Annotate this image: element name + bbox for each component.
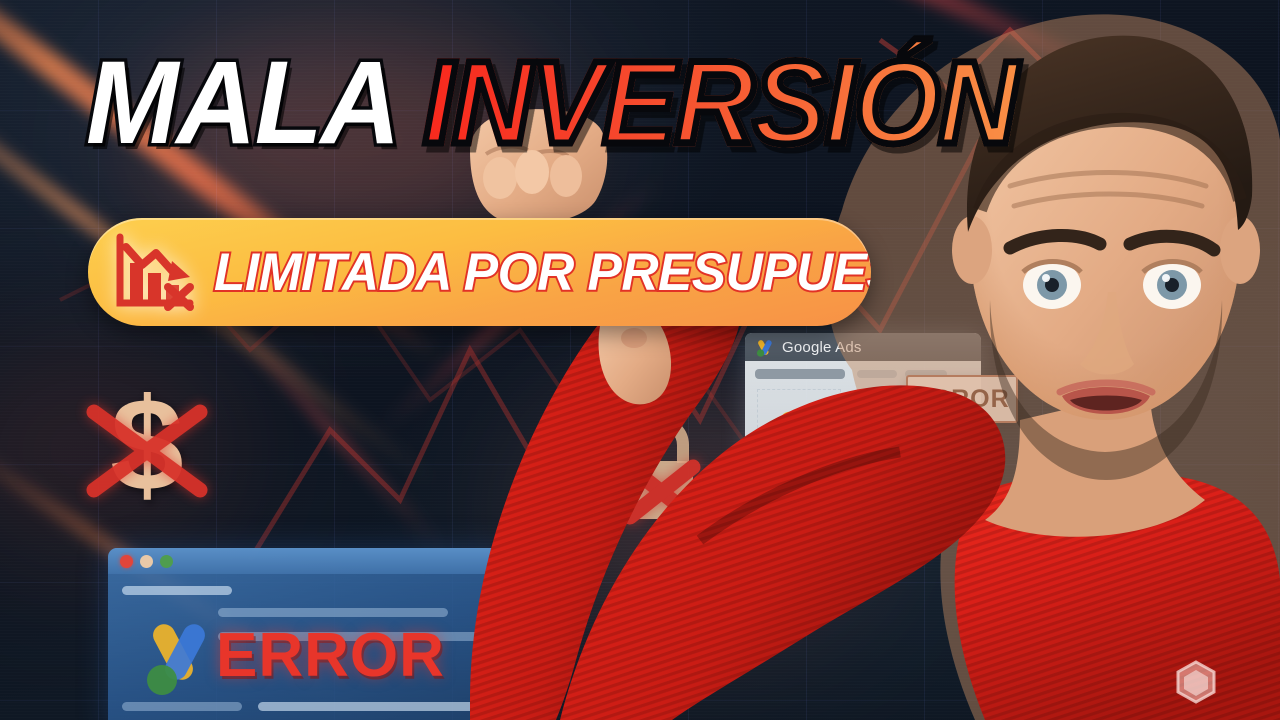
google-ads-logo: [769, 407, 831, 469]
page-title: MALAINVERSIÓN: [86, 42, 1017, 166]
crossed-out-dollar-icon: $: [72, 378, 222, 518]
google-ads-error-badge: ERROR: [906, 375, 1018, 423]
headline-word-inversion: INVERSIÓN: [423, 42, 1016, 166]
status-badge-label: LIMITADA POR PRESUPUESTO: [214, 242, 871, 303]
google-ads-card-titlebar: Google Ads: [745, 333, 981, 361]
window-minimize-dot-icon[interactable]: [140, 555, 153, 568]
browser-error-text: ERROR: [216, 620, 445, 691]
browser-content: ERROR: [108, 574, 510, 720]
google-ads-card-title: Google Ads: [782, 339, 862, 356]
window-maximize-dot-icon[interactable]: [160, 555, 173, 568]
google-ads-icon: [755, 338, 774, 357]
browser-error-window: ERROR: [108, 548, 510, 720]
window-close-dot-icon[interactable]: [120, 555, 133, 568]
google-ads-error-text: ERROR: [914, 385, 1009, 414]
browser-titlebar: [108, 548, 510, 574]
thumbnail-canvas: $: [0, 0, 1280, 720]
google-ads-logo: [138, 618, 212, 696]
crossed-out-padlock-icon: [605, 405, 715, 535]
declining-bar-chart-with-x-icon: [112, 233, 196, 311]
headline-word-mala: MALA: [86, 42, 399, 166]
status-badge: LIMITADA POR PRESUPUESTO: [88, 218, 871, 326]
